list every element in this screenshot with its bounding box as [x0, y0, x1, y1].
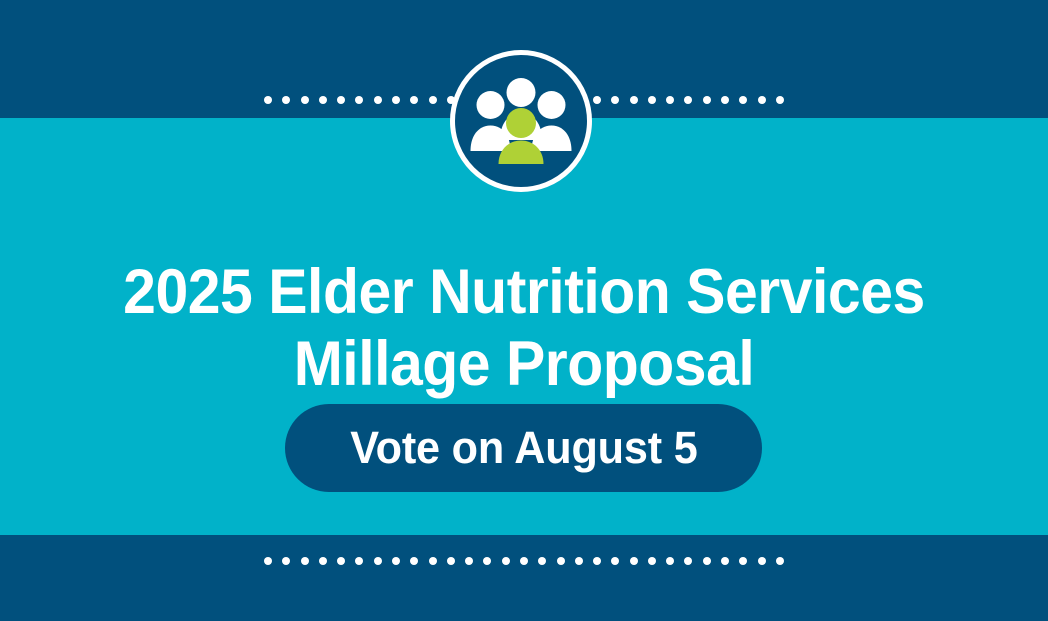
headline-line-1: 2025 Elder Nutrition Services — [34, 256, 1014, 328]
divider-dot — [739, 96, 747, 104]
vote-cta-label: Vote on August 5 — [350, 422, 697, 474]
divider-dot — [758, 557, 766, 565]
divider-dot — [465, 557, 473, 565]
divider-dot — [593, 96, 601, 104]
divider-dot — [684, 96, 692, 104]
divider-dot — [776, 557, 784, 565]
vote-cta-button[interactable]: Vote on August 5 — [285, 404, 762, 492]
divider-dot — [392, 557, 400, 565]
divider-dot — [611, 557, 619, 565]
page-title: 2025 Elder Nutrition Services Millage Pr… — [34, 256, 1014, 400]
divider-dot — [557, 557, 565, 565]
divider-dot — [410, 96, 418, 104]
divider-dot — [520, 557, 528, 565]
divider-dot — [410, 557, 418, 565]
divider-dot — [319, 96, 327, 104]
divider-dot — [337, 96, 345, 104]
divider-dot — [483, 557, 491, 565]
divider-dot — [337, 557, 345, 565]
divider-dot — [392, 96, 400, 104]
divider-dot — [282, 96, 290, 104]
divider-dot — [301, 96, 309, 104]
divider-dot — [538, 557, 546, 565]
divider-dot — [703, 96, 711, 104]
dotted-divider-bottom — [264, 556, 784, 565]
divider-dot — [648, 557, 656, 565]
divider-dot — [630, 96, 638, 104]
divider-dot — [666, 96, 674, 104]
divider-dot — [282, 557, 290, 565]
divider-dot — [301, 557, 309, 565]
millage-proposal-banner: 2025 Elder Nutrition Services Millage Pr… — [0, 0, 1048, 621]
divider-dot — [374, 557, 382, 565]
divider-dot — [703, 557, 711, 565]
bottom-color-band — [0, 535, 1048, 621]
divider-dot — [721, 96, 729, 104]
divider-dot — [611, 96, 619, 104]
divider-dot — [684, 557, 692, 565]
divider-dot — [776, 96, 784, 104]
divider-dot — [593, 557, 601, 565]
divider-dot — [758, 96, 766, 104]
divider-dot — [447, 557, 455, 565]
divider-dot — [721, 557, 729, 565]
divider-dot — [502, 557, 510, 565]
divider-dot — [429, 96, 437, 104]
group-of-people-icon — [450, 50, 592, 192]
divider-dot — [630, 557, 638, 565]
divider-dot — [429, 557, 437, 565]
divider-dot — [264, 557, 272, 565]
divider-dot — [355, 96, 363, 104]
divider-dot — [575, 557, 583, 565]
divider-dot — [374, 96, 382, 104]
divider-dot — [319, 557, 327, 565]
divider-dot — [666, 557, 674, 565]
headline-line-2: Millage Proposal — [34, 328, 1014, 400]
divider-dot — [739, 557, 747, 565]
divider-dot — [355, 557, 363, 565]
divider-dot — [264, 96, 272, 104]
divider-dot — [648, 96, 656, 104]
